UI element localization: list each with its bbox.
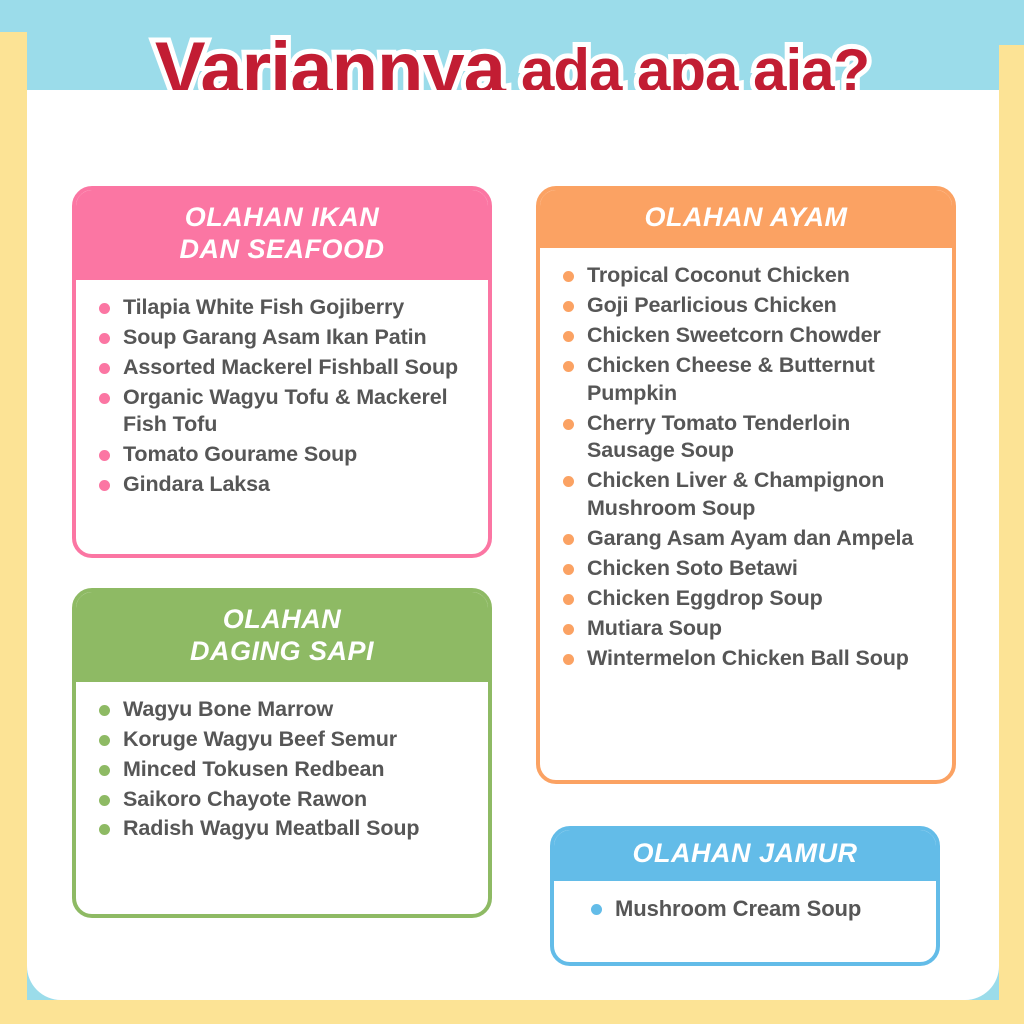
list-item: Radish Wagyu Meatball Soup <box>96 815 470 843</box>
category-title-line1: OLAHAN AYAM <box>546 202 946 234</box>
list-item-label: Wagyu Bone Marrow <box>123 697 333 721</box>
list-item: Wagyu Bone Marrow <box>96 696 470 724</box>
list-item: Goji Pearlicious Chicken <box>560 292 934 320</box>
bullet-icon <box>563 419 574 430</box>
bullet-icon <box>99 303 110 314</box>
category-header-mushroom: OLAHAN JAMUR <box>550 826 940 881</box>
list-item: Mushroom Cream Soup <box>588 895 918 924</box>
list-item-label: Garang Asam Ayam dan Ampela <box>587 526 913 550</box>
list-item: Chicken Liver & Champignon Mushroom Soup <box>560 467 934 523</box>
bullet-icon <box>99 765 110 776</box>
list-item: Tilapia White Fish Gojiberry <box>96 294 470 322</box>
list-item-label: Minced Tokusen Redbean <box>123 757 384 781</box>
bullet-icon <box>99 795 110 806</box>
frame-bottom-yellow <box>0 1000 1024 1024</box>
frame-right-yellow <box>999 45 1024 1024</box>
list-item-label: Chicken Soto Betawi <box>587 556 798 580</box>
list-item-label: Saikoro Chayote Rawon <box>123 787 367 811</box>
list-item-label: Tomato Gourame Soup <box>123 442 357 466</box>
category-header-beef: OLAHAN DAGING SAPI <box>72 588 492 682</box>
list-item: Tropical Coconut Chicken <box>560 262 934 290</box>
list-item-label: Organic Wagyu Tofu & Mackerel Fish Tofu <box>123 385 447 437</box>
category-card-mushroom: OLAHAN JAMUR Mushroom Cream Soup <box>550 826 940 966</box>
category-title-line2: DAN SEAFOOD <box>82 234 482 266</box>
menu-list-fish-seafood: Tilapia White Fish Gojiberry Soup Garang… <box>96 294 470 500</box>
menu-list-mushroom: Mushroom Cream Soup <box>588 895 918 924</box>
bullet-icon <box>99 735 110 746</box>
category-body-beef: Wagyu Bone Marrow Koruge Wagyu Beef Semu… <box>76 682 488 860</box>
bullet-icon <box>99 480 110 491</box>
list-item: Chicken Soto Betawi <box>560 555 934 583</box>
category-body-mushroom: Mushroom Cream Soup <box>554 881 936 940</box>
list-item-label: Chicken Eggdrop Soup <box>587 586 823 610</box>
list-item: Mutiara Soup <box>560 615 934 643</box>
list-item: Wintermelon Chicken Ball Soup <box>560 645 934 673</box>
bullet-icon <box>591 904 602 915</box>
bullet-icon <box>99 450 110 461</box>
list-item: Assorted Mackerel Fishball Soup <box>96 354 470 382</box>
menu-list-beef: Wagyu Bone Marrow Koruge Wagyu Beef Semu… <box>96 696 470 844</box>
list-item: Organic Wagyu Tofu & Mackerel Fish Tofu <box>96 384 470 440</box>
bullet-icon <box>563 594 574 605</box>
bullet-icon <box>563 476 574 487</box>
list-item: Cherry Tomato Tenderloin Sausage Soup <box>560 410 934 466</box>
list-item-label: Radish Wagyu Meatball Soup <box>123 816 419 840</box>
list-item-label: Chicken Liver & Champignon Mushroom Soup <box>587 468 884 520</box>
list-item: Gindara Laksa <box>96 471 470 499</box>
category-body-fish-seafood: Tilapia White Fish Gojiberry Soup Garang… <box>76 280 488 516</box>
list-item: Garang Asam Ayam dan Ampela <box>560 525 934 553</box>
list-item-label: Koruge Wagyu Beef Semur <box>123 727 397 751</box>
bullet-icon <box>563 331 574 342</box>
list-item: Soup Garang Asam Ikan Patin <box>96 324 470 352</box>
category-card-beef: OLAHAN DAGING SAPI Wagyu Bone Marrow Kor… <box>72 588 492 918</box>
bullet-icon <box>99 393 110 404</box>
list-item: Chicken Cheese & Butternut Pumpkin <box>560 352 934 408</box>
category-title-line1: OLAHAN IKAN <box>82 202 482 234</box>
bullet-icon <box>563 624 574 635</box>
list-item-label: Tilapia White Fish Gojiberry <box>123 295 404 319</box>
list-item-label: Chicken Sweetcorn Chowder <box>587 323 881 347</box>
list-item: Chicken Sweetcorn Chowder <box>560 322 934 350</box>
list-item: Chicken Eggdrop Soup <box>560 585 934 613</box>
list-item-label: Tropical Coconut Chicken <box>587 263 850 287</box>
category-body-chicken: Tropical Coconut Chicken Goji Pearliciou… <box>540 248 952 689</box>
list-item-label: Chicken Cheese & Butternut Pumpkin <box>587 353 875 405</box>
bullet-icon <box>563 654 574 665</box>
bullet-icon <box>563 271 574 282</box>
list-item-label: Mushroom Cream Soup <box>615 896 861 921</box>
category-title-line1: OLAHAN JAMUR <box>560 838 930 870</box>
list-item: Minced Tokusen Redbean <box>96 756 470 784</box>
list-item-label: Assorted Mackerel Fishball Soup <box>123 355 458 379</box>
category-title-line1: OLAHAN <box>82 604 482 636</box>
category-header-fish-seafood: OLAHAN IKAN DAN SEAFOOD <box>72 186 492 280</box>
list-item-label: Soup Garang Asam Ikan Patin <box>123 325 427 349</box>
list-item-label: Cherry Tomato Tenderloin Sausage Soup <box>587 411 850 463</box>
bullet-icon <box>563 301 574 312</box>
category-card-fish-seafood: OLAHAN IKAN DAN SEAFOOD Tilapia White Fi… <box>72 186 492 558</box>
bullet-icon <box>563 534 574 545</box>
bullet-icon <box>99 333 110 344</box>
poster-canvas: Variannyaada apa aja? OLAHAN IKAN DAN SE… <box>0 0 1024 1024</box>
list-item: Saikoro Chayote Rawon <box>96 786 470 814</box>
category-card-chicken: OLAHAN AYAM Tropical Coconut Chicken Goj… <box>536 186 956 784</box>
category-title-line2: DAGING SAPI <box>82 636 482 668</box>
bullet-icon <box>99 363 110 374</box>
list-item: Koruge Wagyu Beef Semur <box>96 726 470 754</box>
list-item-label: Goji Pearlicious Chicken <box>587 293 837 317</box>
list-item-label: Wintermelon Chicken Ball Soup <box>587 646 909 670</box>
bullet-icon <box>99 705 110 716</box>
bullet-icon <box>563 361 574 372</box>
bullet-icon <box>563 564 574 575</box>
list-item-label: Gindara Laksa <box>123 472 270 496</box>
list-item-label: Mutiara Soup <box>587 616 722 640</box>
menu-list-chicken: Tropical Coconut Chicken Goji Pearliciou… <box>560 262 934 673</box>
frame-left-yellow <box>0 32 27 1024</box>
bullet-icon <box>99 824 110 835</box>
category-header-chicken: OLAHAN AYAM <box>536 186 956 248</box>
list-item: Tomato Gourame Soup <box>96 441 470 469</box>
